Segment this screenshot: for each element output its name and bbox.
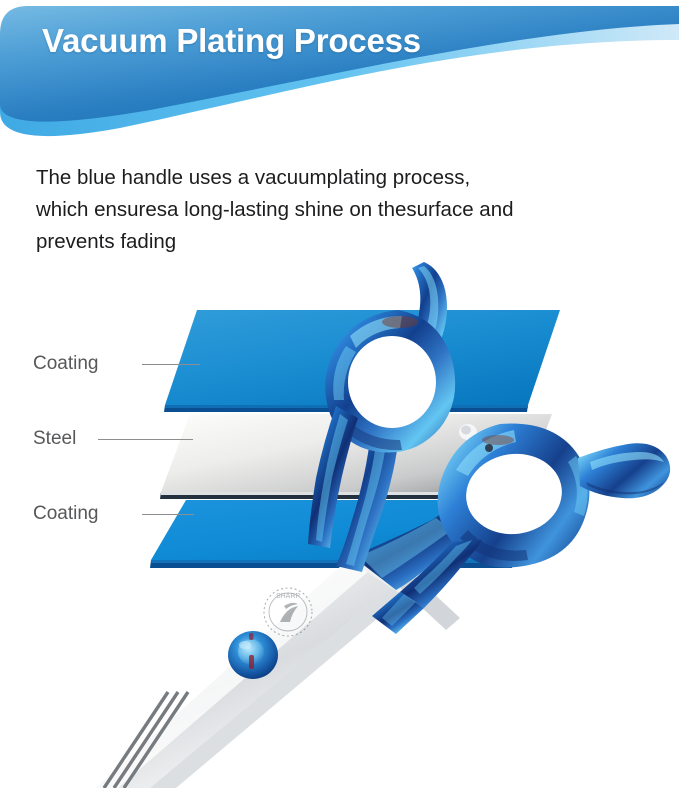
label-coating-top: Coating [33,353,99,375]
leader-line-coating-top [142,364,200,365]
leader-line-coating-bottom [142,514,194,515]
layer-sheet-steel [160,414,552,499]
label-coating-bottom: Coating [33,503,99,525]
poster-canvas: Vacuum Plating Process The blue handle u… [0,0,679,788]
layer-sheet-coating-bottom [150,500,548,568]
layer-stack-diagram [0,0,679,788]
leader-line-steel [98,439,193,440]
label-steel: Steel [33,428,76,450]
layer-sheet-coating-top [164,310,560,412]
